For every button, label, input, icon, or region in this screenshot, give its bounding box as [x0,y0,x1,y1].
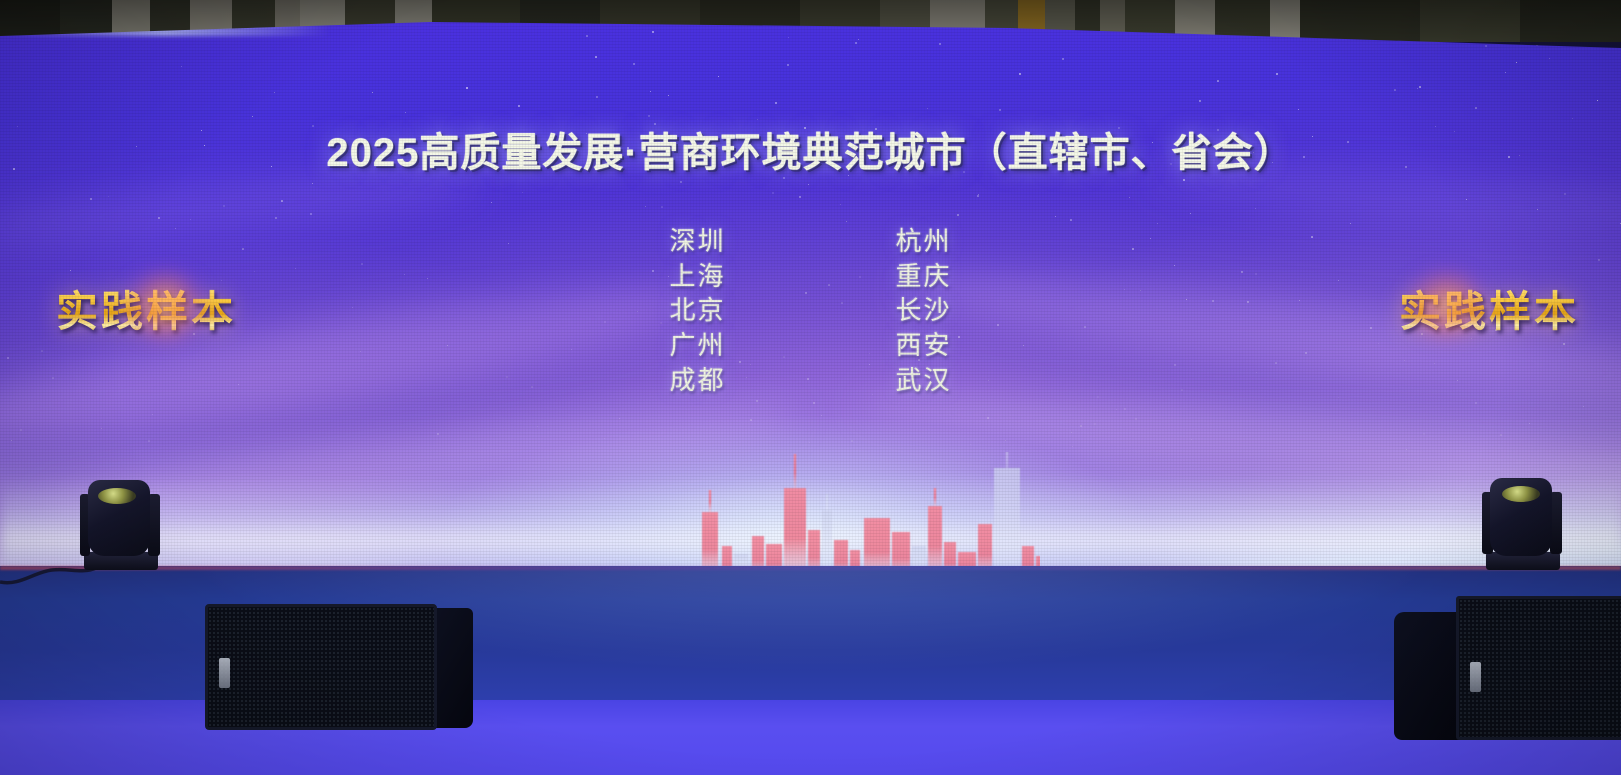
star [1071,432,1072,433]
star [775,102,777,104]
star [987,417,989,419]
star [648,115,650,117]
star [1485,45,1487,47]
star [158,217,160,219]
star [970,444,971,445]
star [1255,208,1256,209]
star [281,200,283,202]
star [1157,223,1158,224]
star [1199,100,1201,102]
star [437,433,439,435]
star [1417,88,1418,89]
star [491,202,492,203]
star [1191,439,1192,440]
star [661,206,663,208]
star [1070,219,1072,221]
star [619,418,620,419]
city-item: 杭州 [896,226,952,257]
star [1097,396,1099,398]
star [372,92,373,93]
star [312,183,313,184]
star [927,108,928,109]
gold-banner-left: 实践样本 [56,278,236,339]
star [787,64,789,66]
city-item: 重庆 [896,261,952,292]
star [1597,100,1598,101]
city-item: 深圳 [669,226,725,257]
star [1116,409,1117,410]
light-lens-icon [98,488,136,504]
star [223,205,225,207]
star [1350,223,1351,224]
star [1505,72,1506,73]
star [1055,216,1056,217]
star [799,196,801,198]
star [518,105,520,107]
city-skyline-graphic [660,452,1040,570]
star [1005,440,1006,441]
moving-head-light-left [78,478,164,570]
speaker-badge [219,658,230,688]
star [1062,58,1064,60]
star [108,196,109,197]
stage-monitor-speaker-left [205,602,473,730]
star [405,112,406,113]
moving-head-light-right [1480,476,1566,570]
star [1080,425,1082,427]
star [633,63,635,65]
star [152,414,153,415]
stage-floor-edge [0,566,1621,570]
star [252,116,253,117]
star [650,91,651,92]
star [1475,107,1477,109]
star [1019,73,1021,75]
star [1338,397,1339,398]
star [999,109,1001,111]
stage-monitor-speaker-right [1394,590,1621,742]
star [846,221,847,222]
star [652,31,654,33]
star [522,192,523,193]
star [645,206,646,207]
star [680,181,682,183]
city-item: 成都 [669,365,725,396]
star [90,198,92,200]
star [851,440,853,442]
city-item: 长沙 [896,295,952,326]
star [586,35,588,37]
light-lens-icon [1502,486,1540,502]
star [1536,44,1538,46]
star [1406,449,1407,450]
speaker-badge [1470,662,1481,692]
star [101,428,102,429]
star [1564,193,1566,195]
city-column-left: 深圳 上海 北京 广州 成都 [669,226,725,395]
star [1529,423,1530,424]
star [1276,73,1278,75]
stage-photo: 2025高质量发展·营商环境典范城市（直辖市、省会） 深圳 上海 北京 广州 成… [0,0,1621,775]
star [1217,80,1219,82]
star [148,440,150,442]
star [1549,58,1550,59]
star [957,214,959,216]
star [1298,109,1299,110]
city-item: 西安 [896,330,952,361]
city-list: 深圳 上海 北京 广州 成都 杭州 重庆 长沙 西安 武汉 [0,226,1621,395]
speaker-cabinet-side [1394,612,1460,740]
star [809,442,810,443]
star [939,43,941,45]
star [274,92,275,93]
star [11,440,12,441]
star [1516,62,1517,63]
star [1124,408,1126,410]
page-title: 2025高质量发展·营商环境典范城市（直辖市、省会） [0,120,1621,178]
star [595,56,597,58]
city-item: 上海 [669,261,725,292]
star [718,76,719,77]
star [977,195,979,197]
star [855,42,857,44]
gold-banner-right: 实践样本 [1399,278,1579,339]
star [1419,86,1421,88]
horizon-glow [0,477,1621,570]
star [1190,213,1191,214]
star [310,213,312,215]
star [821,415,822,416]
star [537,426,538,427]
star [190,219,191,220]
star [596,96,598,98]
star [668,95,669,96]
city-item: 广州 [669,330,725,361]
star [808,184,809,185]
city-column-right: 杭州 重庆 长沙 西安 武汉 [896,226,952,395]
star [1072,446,1073,447]
star [978,194,979,195]
star [1423,433,1425,435]
speaker-grille [205,604,437,730]
star [20,429,22,431]
star [1135,418,1137,420]
star [756,400,758,402]
star [1094,423,1096,425]
star [1129,197,1130,198]
star [1466,199,1467,200]
star [1394,89,1396,91]
star [275,217,277,219]
star [772,192,774,194]
star [1537,209,1538,210]
star [1572,118,1573,119]
star [219,436,220,437]
star [813,402,815,404]
led-display-wall: 2025高质量发展·营商环境典范城市（直辖市、省会） 深圳 上海 北京 广州 成… [0,22,1621,570]
city-item: 武汉 [896,365,952,396]
star [1583,406,1584,407]
star [840,204,841,205]
city-item: 北京 [669,295,725,326]
star [466,87,468,89]
star [1183,179,1185,181]
star [750,419,752,421]
star [604,438,605,439]
star [1475,402,1477,404]
star [858,39,859,40]
star [1500,434,1502,436]
star [181,66,182,67]
star [788,37,789,38]
